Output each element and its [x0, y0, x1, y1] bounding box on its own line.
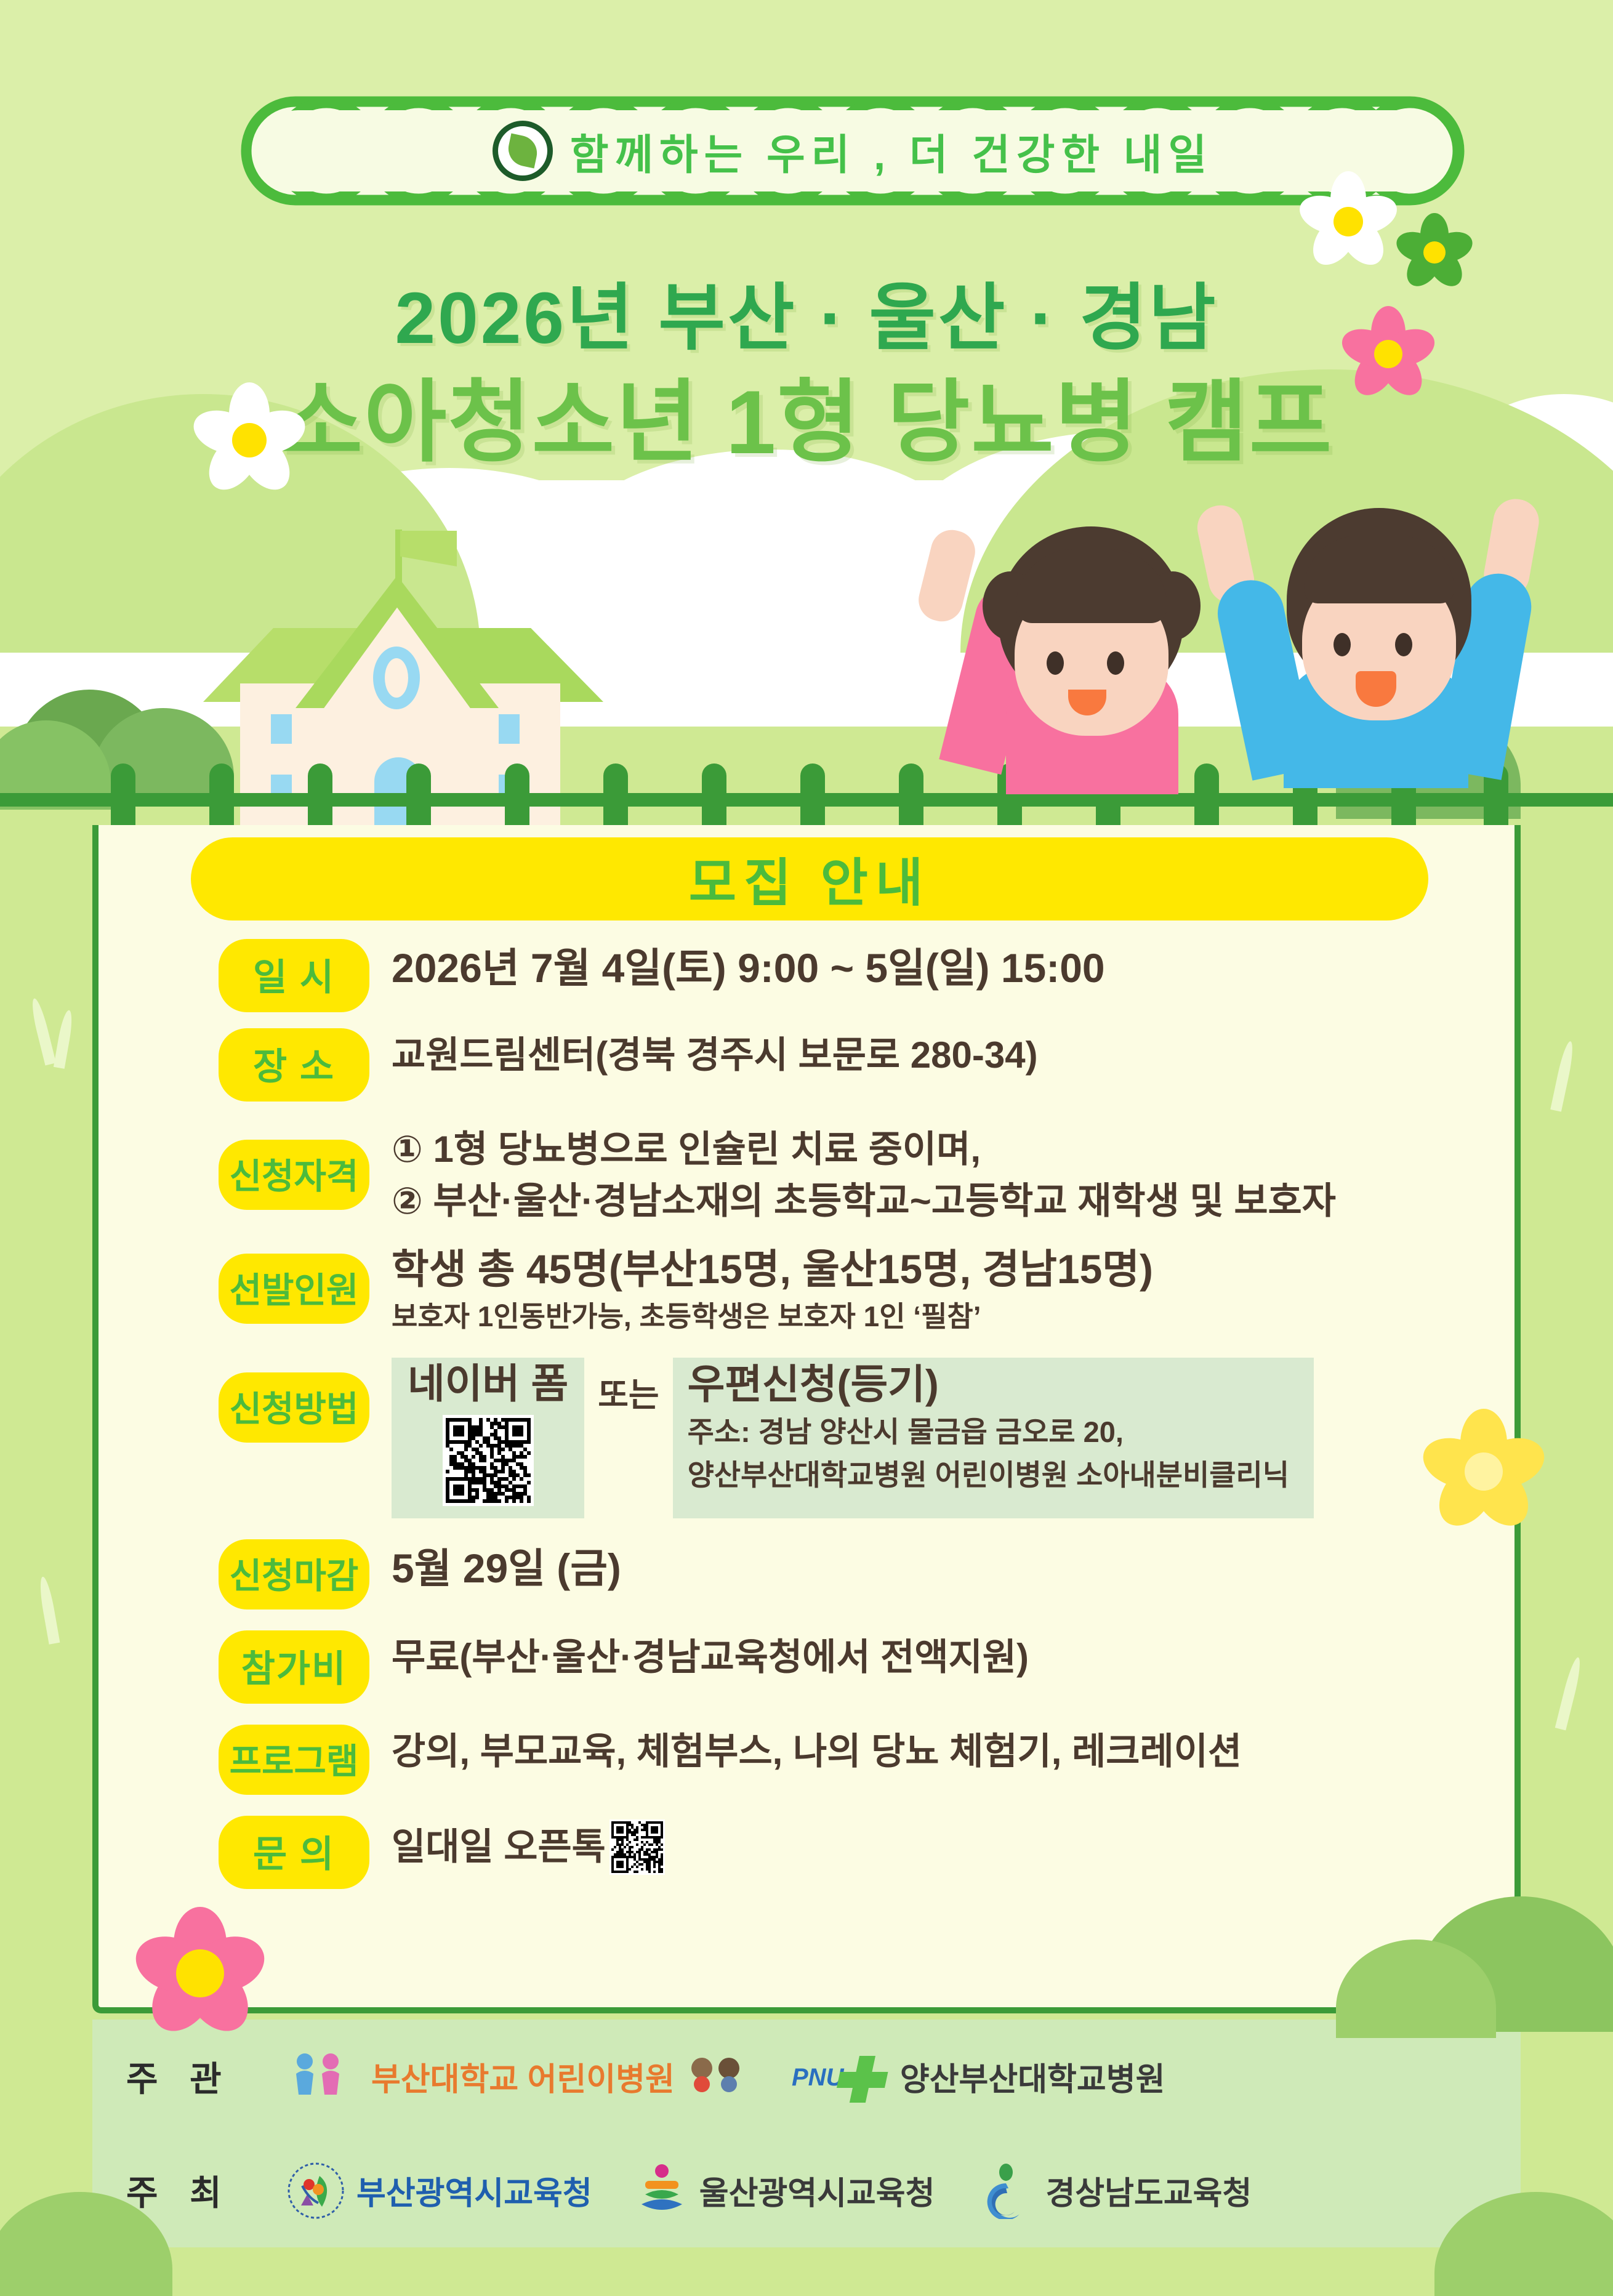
value-eligibility-1: ① 1형 당뇨병으로 인슐린 치료 중이며,: [392, 1126, 1527, 1173]
kid-girl-illustration: [942, 493, 1231, 788]
apply-option-naver-label: 네이버 폼: [408, 1361, 568, 1406]
flower-green-1: [1385, 203, 1484, 302]
info-card: 모집 안내 일 시 2026년 7월 4일(토) 9:00 ~ 5일(일) 15…: [92, 825, 1521, 2013]
row-quota: 선발인원 학생 총 45명(부산15명, 울산15명, 경남15명) 보호자 1…: [99, 1240, 1527, 1335]
value-fee: 무료(부산·울산·경남교육청에서 전액지원): [392, 1634, 1527, 1681]
value-program: 강의, 부모교육, 체험부스, 나의 당뇨 체험기, 레크레이션: [392, 1728, 1527, 1775]
svg-text:PNU: PNU: [792, 2064, 845, 2091]
flower-yellow-1: [1410, 1398, 1558, 1545]
label-deadline: 신청마감: [219, 1539, 369, 1609]
row-fee: 참가비 무료(부산·울산·경남교육청에서 전액지원): [99, 1630, 1527, 1704]
row-venue: 장 소 교원드림센터(경북 경주시 보문로 280-34): [99, 1028, 1527, 1102]
flower-white-2: [179, 369, 320, 511]
slogan-ribbon: 함께하는 우리 , 더 건강한 내일: [240, 95, 1465, 206]
value-deadline: 5월 29일 (금): [392, 1543, 1527, 1594]
label-apply-method: 신청방법: [219, 1372, 369, 1443]
naver-form-qr-code[interactable]: [443, 1415, 534, 1506]
footer-organizer-item-3: 경상남도교육청: [978, 2162, 1252, 2219]
row-eligibility: 신청자격 ① 1형 당뇨병으로 인슐린 치료 중이며, ② 부산·울산·경남소재…: [99, 1122, 1527, 1224]
gyeongnam-education-office-logo-icon: [978, 2162, 1034, 2219]
value-eligibility-2: ② 부산·울산·경남소재의 초등학교~고등학교 재학생 및 보호자: [392, 1178, 1527, 1225]
school-round-window: [373, 647, 420, 709]
footer-organizer-name-2: 울산광역시교육청: [699, 2167, 935, 2213]
value-venue: 교원드림센터(경북 경주시 보문로 280-34): [392, 1032, 1527, 1079]
open-talk-qr-code[interactable]: [609, 1819, 665, 1875]
footer-organizer-row: 주 최 부산광역시교육청: [92, 2133, 1521, 2247]
value-quota: 학생 총 45명(부산15명, 울산15명, 경남15명): [392, 1244, 1527, 1295]
footer-host-item-1: 부산대학교 어린이병원: [286, 2049, 747, 2105]
label-venue: 장 소: [219, 1028, 369, 1102]
footer-host-name-1: 부산대학교 어린이병원: [371, 2053, 675, 2100]
row-deadline: 신청마감 5월 29일 (금): [99, 1539, 1527, 1609]
card-header-title: 모집 안내: [689, 842, 930, 916]
label-program: 프로그램: [219, 1725, 369, 1795]
footer-organizer-item-1: 부산광역시교육청: [286, 2161, 592, 2220]
row-inquiry: 문 의 일대일 오픈톡: [99, 1816, 1527, 1889]
value-quota-note: 보호자 1인동반가능, 초등학생은 보호자 1인 ‘필참’: [392, 1299, 1527, 1335]
flower-pink-2: [123, 1896, 277, 2050]
footer-organizer-item-2: 울산광역시교육청: [635, 2162, 935, 2219]
flower-pink-1: [1330, 296, 1447, 413]
footer-credits: 주 관 부산대학교 어린이병원: [92, 2020, 1521, 2247]
label-eligibility: 신청자격: [219, 1140, 369, 1210]
footer-host-name-2: 양산부산대학교병원: [900, 2053, 1165, 2100]
footer-host-row: 주 관 부산대학교 어린이병원: [92, 2020, 1521, 2133]
kid-boy-illustration: [1225, 480, 1533, 788]
pnu-childrens-hospital-logo-icon: [286, 2049, 360, 2105]
row-apply-method: 신청방법 네이버 폼 또는 우편신청(등기) 주소: 경남 양산시 물금읍 금오…: [99, 1354, 1527, 1518]
footer-host-item-2: PNU 양산부산대학교병원: [790, 2051, 1165, 2103]
label-date: 일 시: [219, 939, 369, 1012]
pnuh-cross-logo-icon: PNU: [790, 2051, 889, 2103]
footer-organizer-label: 주 최: [126, 2165, 286, 2215]
footer-organizer-name-3: 경상남도교육청: [1045, 2167, 1252, 2213]
label-inquiry: 문 의: [219, 1816, 369, 1889]
row-date: 일 시 2026년 7월 4일(토) 9:00 ~ 5일(일) 15:00: [99, 939, 1527, 1012]
value-inquiry: 일대일 오픈톡: [392, 1824, 606, 1871]
hospital-mascot-icon: [686, 2052, 747, 2101]
apply-mail-address-line2: 양산부산대학교병원 어린이병원 소아내분비클리닉: [688, 1456, 1289, 1494]
footer-organizer-name-1: 부산광역시교육청: [356, 2167, 592, 2213]
card-header-banner: 모집 안내: [191, 837, 1428, 920]
apply-option-naver-form[interactable]: 네이버 폼: [392, 1358, 584, 1518]
label-fee: 참가비: [219, 1630, 369, 1704]
busan-education-office-logo-icon: [286, 2161, 345, 2220]
footer-host-label: 주 관: [126, 2052, 286, 2101]
apply-option-mail: 우편신청(등기) 주소: 경남 양산시 물금읍 금오로 20, 양산부산대학교병…: [673, 1358, 1314, 1518]
apply-mail-address-line1: 주소: 경남 양산시 물금읍 금오로 20,: [688, 1413, 1289, 1451]
value-date: 2026년 7월 4일(토) 9:00 ~ 5일(일) 15:00: [392, 943, 1527, 994]
ulsan-education-office-logo-icon: [635, 2162, 688, 2219]
slogan-text: 함께하는 우리 , 더 건강한 내일: [570, 121, 1213, 182]
info-rows: 일 시 2026년 7월 4일(토) 9:00 ~ 5일(일) 15:00 장 …: [99, 939, 1527, 1895]
organization-emblem-icon: [493, 121, 553, 181]
label-quota: 선발인원: [219, 1254, 369, 1324]
apply-option-mail-label: 우편신청(등기): [688, 1361, 1289, 1408]
row-program: 프로그램 강의, 부모교육, 체험부스, 나의 당뇨 체험기, 레크레이션: [99, 1725, 1527, 1795]
apply-connector: 또는: [584, 1358, 672, 1518]
